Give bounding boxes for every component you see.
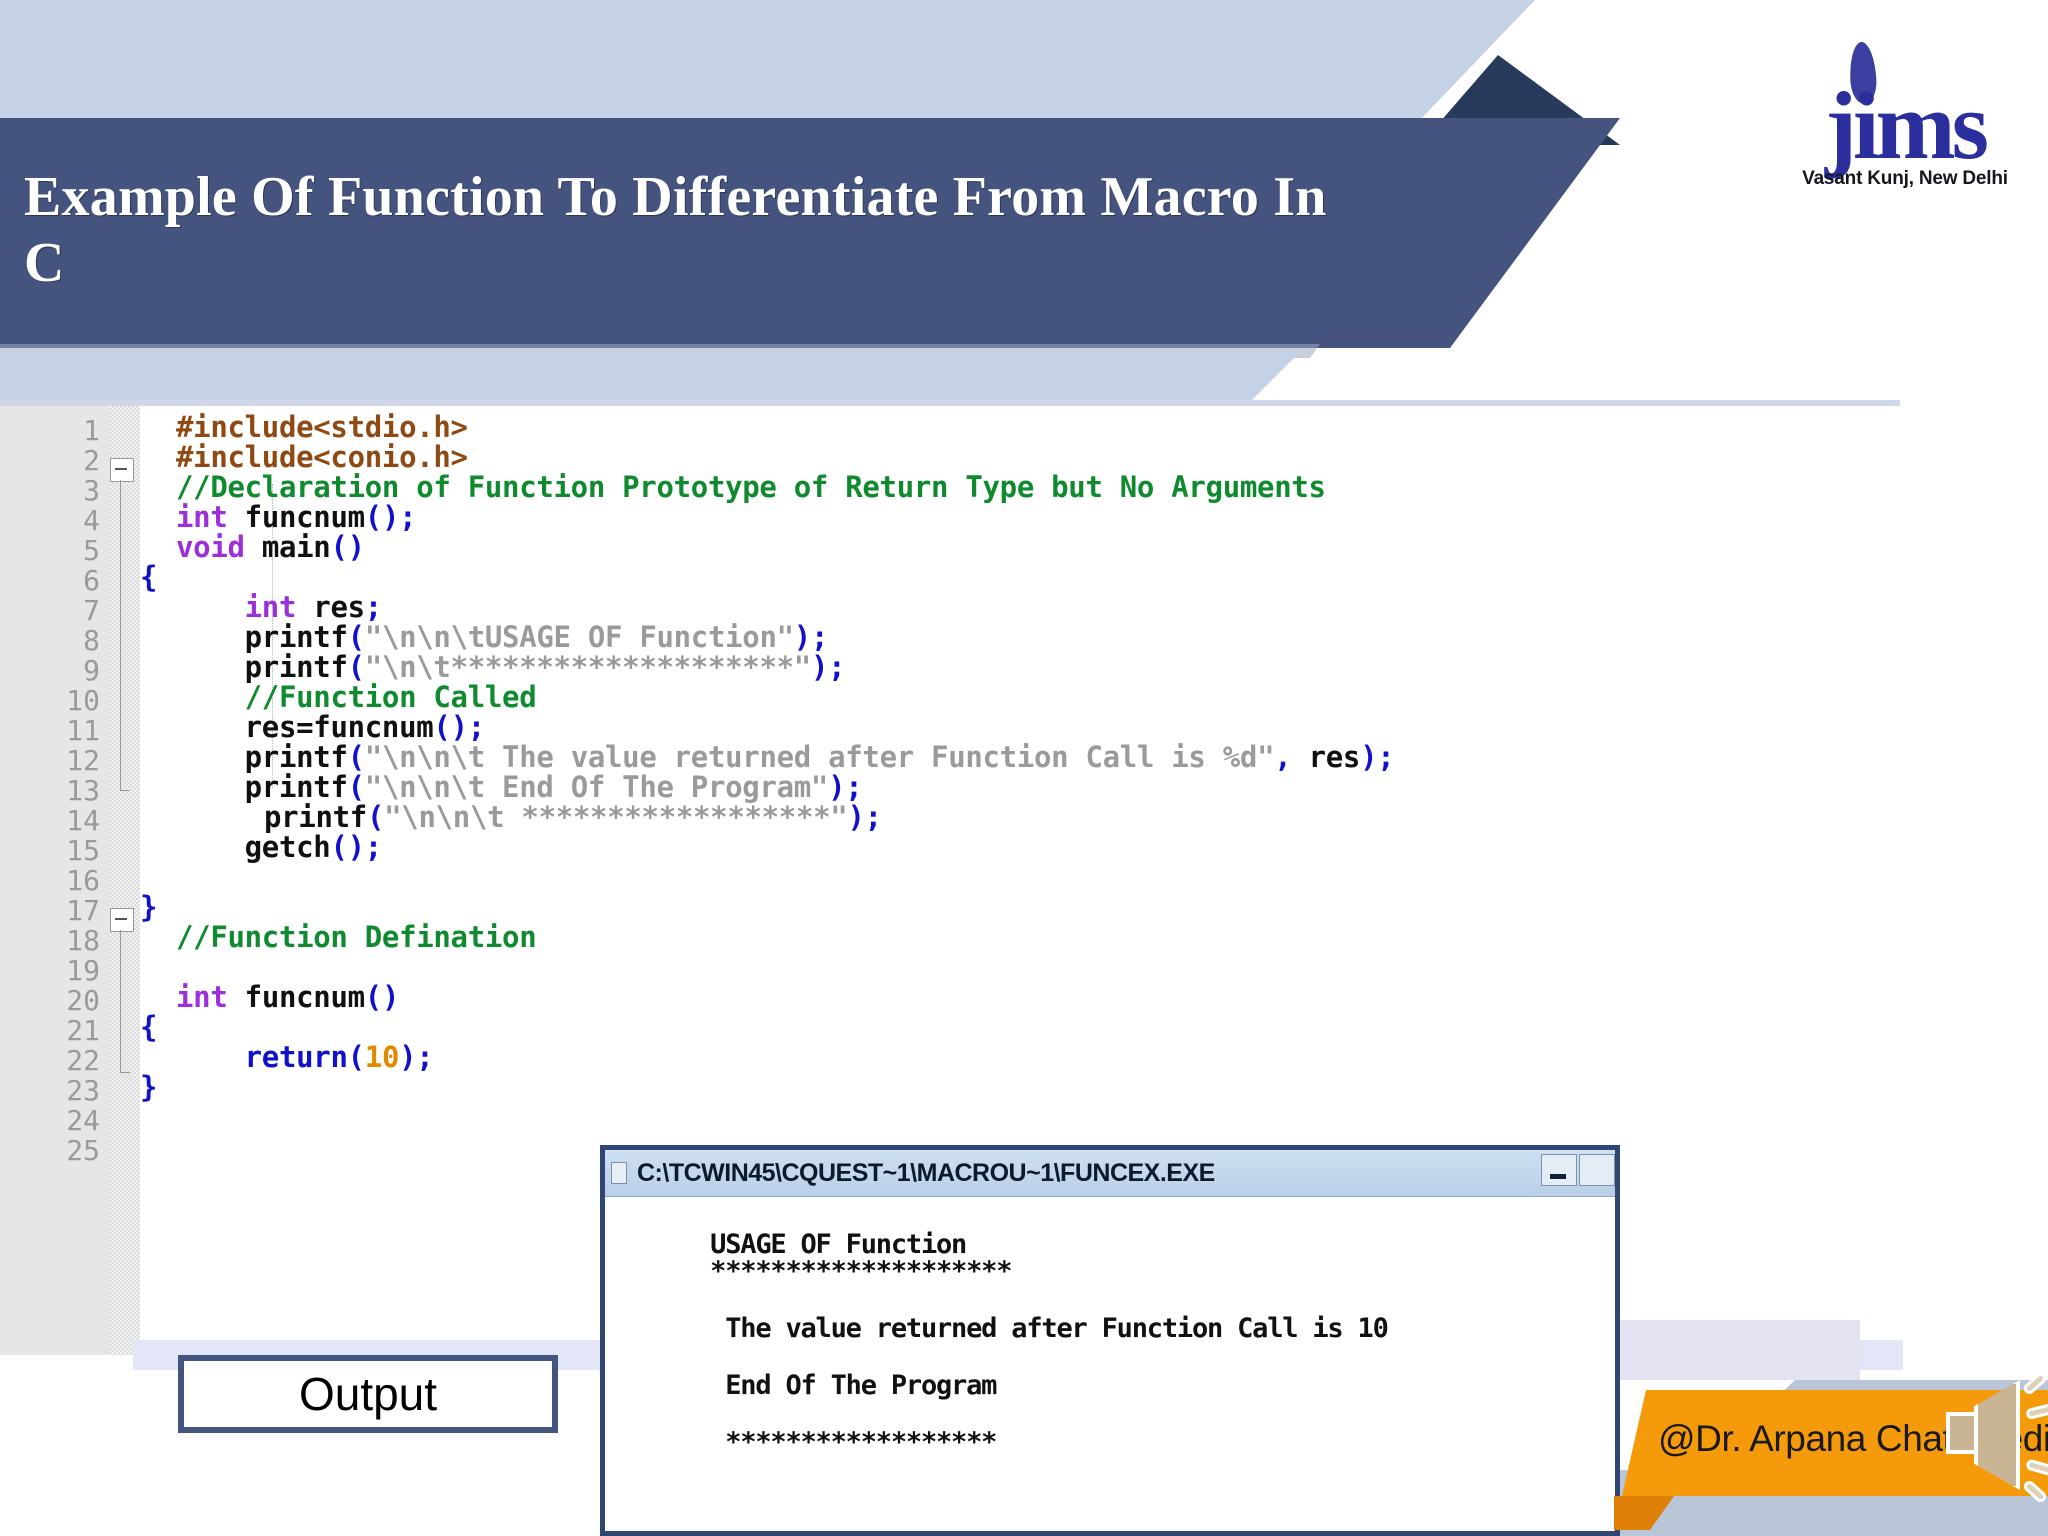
line-number: 15 [0, 834, 100, 867]
line-number: 4 [0, 504, 100, 537]
fold-guide-end-main [120, 790, 130, 791]
console-window[interactable]: C:\TCWIN45\CQUEST~1\MACROU~1\FUNCEX.EXE … [600, 1145, 1620, 1536]
speaker-icon[interactable] [1940, 1370, 2048, 1510]
banner-light-shape [0, 0, 1535, 120]
page-title: Example Of Function To Differentiate Fro… [24, 165, 1364, 296]
output-callout-box: Output [178, 1355, 558, 1433]
console-line: USAGE OF Function [665, 1231, 1615, 1258]
line-number: 24 [0, 1104, 100, 1137]
line-number: 12 [0, 744, 100, 777]
console-line: ****************** [665, 1429, 1615, 1456]
fold-guide-main [120, 480, 121, 790]
line-number: 19 [0, 954, 100, 987]
code-line-11: res=funcnum(); [176, 710, 485, 744]
line-number: 14 [0, 804, 100, 837]
line-number: 10 [0, 684, 100, 717]
line-number: 22 [0, 1044, 100, 1077]
fold-guide-func [120, 930, 121, 1072]
logo-tagline: Vasant Kunj, New Delhi [1790, 168, 2020, 190]
system-menu-icon[interactable] [611, 1162, 627, 1184]
code-line-10: //Function Called [176, 680, 536, 714]
line-number: 21 [0, 1014, 100, 1047]
decor-lavender-block [1620, 1320, 1860, 1380]
line-number: 2 [0, 444, 100, 477]
code-line-4: int funcnum(); [176, 500, 416, 534]
line-number: 7 [0, 594, 100, 627]
console-titlebar[interactable]: C:\TCWIN45\CQUEST~1\MACROU~1\FUNCEX.EXE [605, 1150, 1615, 1197]
console-title: C:\TCWIN45\CQUEST~1\MACROU~1\FUNCEX.EXE [637, 1159, 1215, 1188]
line-number: 17 [0, 894, 100, 927]
line-number: 13 [0, 774, 100, 807]
code-line-18: //Function Defination [176, 920, 536, 954]
line-number: 11 [0, 714, 100, 747]
editor-top-divider [0, 400, 1900, 406]
maximize-icon[interactable] [1579, 1154, 1615, 1186]
code-line-7: int res; [176, 590, 382, 624]
line-number: 18 [0, 924, 100, 957]
minimize-icon[interactable] [1541, 1154, 1577, 1186]
code-line-8: printf("\n\n\tUSAGE OF Function"); [176, 620, 828, 654]
fold-toggle-func[interactable] [110, 908, 134, 932]
line-number: 6 [0, 564, 100, 597]
line-number: 25 [0, 1134, 100, 1167]
line-number: 5 [0, 534, 100, 567]
code-line-9: printf("\n\t********************"); [176, 650, 845, 684]
console-line: The value returned after Function Call i… [665, 1315, 1615, 1342]
output-label: Output [299, 1367, 437, 1421]
fold-toggle-main[interactable] [110, 458, 134, 482]
line-number: 1 [0, 414, 100, 447]
console-output: USAGE OF Function ******************** T… [605, 1197, 1615, 1531]
code-line-23: } [140, 1070, 157, 1104]
code-line-3: //Declaration of Function Prototype of R… [176, 470, 1326, 504]
console-line: ******************** [665, 1258, 1615, 1285]
code-line-5: void main() [176, 530, 365, 564]
code-line-13: printf("\n\n\t End Of The Program"); [176, 770, 862, 804]
code-line-22: return(10); [176, 1040, 433, 1074]
code-line-1: #include<stdio.h> [176, 410, 468, 444]
console-line: End Of The Program [665, 1372, 1615, 1399]
window-controls[interactable] [1541, 1154, 1615, 1186]
code-line-20: int funcnum() [176, 980, 399, 1014]
code-line-14: printf("\n\n\t ******************"); [264, 800, 882, 834]
line-number: 23 [0, 1074, 100, 1107]
logo-wordmark: jims [1790, 78, 2020, 174]
fold-guide-end-func [120, 1072, 130, 1073]
console-line [665, 1342, 1615, 1372]
line-number: 3 [0, 474, 100, 507]
line-number: 16 [0, 864, 100, 897]
line-number: 8 [0, 624, 100, 657]
code-line-21: { [140, 1010, 157, 1044]
console-line [665, 1285, 1615, 1315]
code-line-15: getch(); [176, 830, 382, 864]
code-line-6: { [140, 560, 157, 594]
line-number: 9 [0, 654, 100, 687]
code-folding-strip[interactable] [110, 406, 140, 1355]
code-line-2: #include<conio.h> [176, 440, 468, 474]
line-number: 20 [0, 984, 100, 1017]
jims-logo: jims Vasant Kunj, New Delhi [1790, 40, 2020, 200]
console-line [665, 1399, 1615, 1429]
code-line-17: } [140, 890, 157, 924]
code-line-12: printf("\n\n\t The value returned after … [176, 740, 1394, 774]
